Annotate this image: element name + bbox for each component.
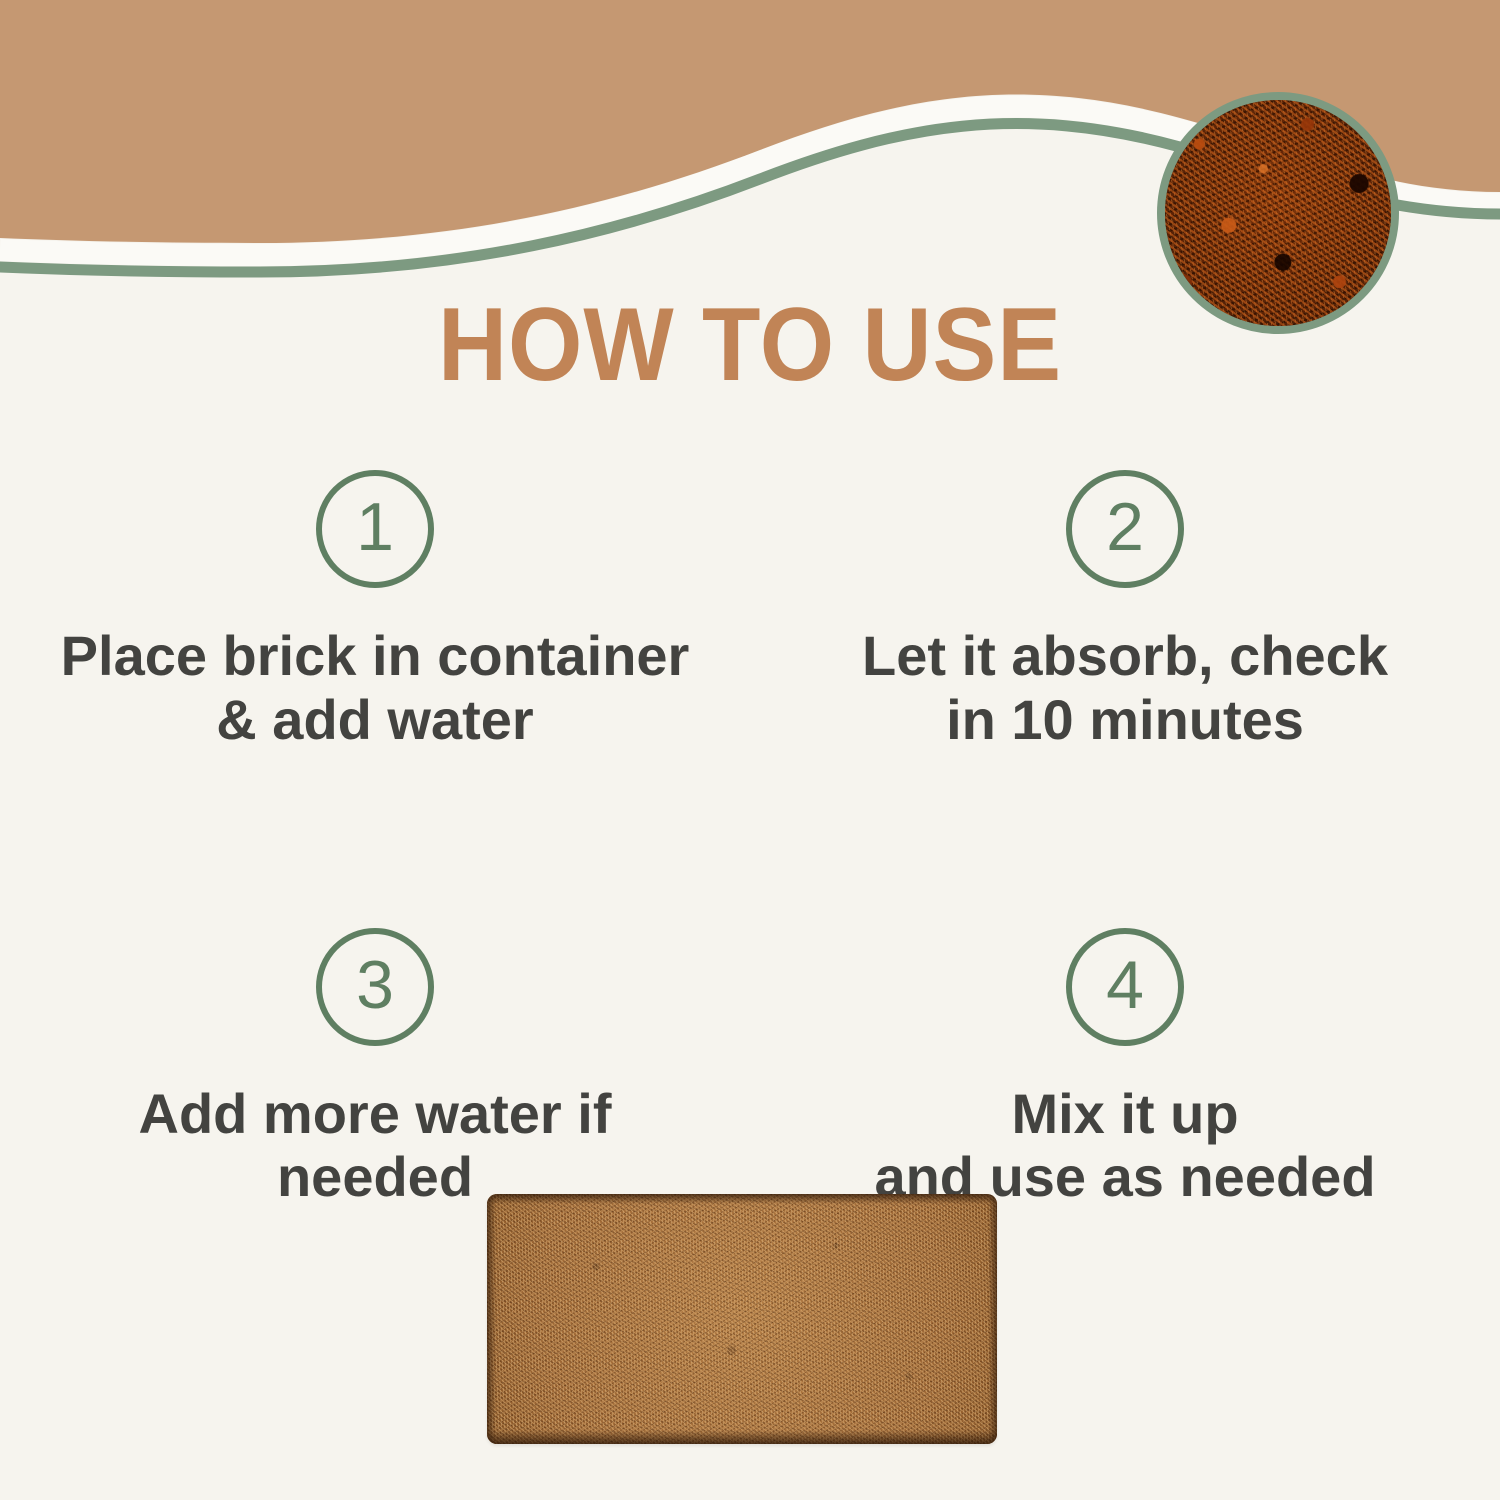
steps-row-1: 1 Place brick in container & add water 2… xyxy=(0,470,1500,752)
steps-row-2: 3 Add more water if needed 4 Mix it up a… xyxy=(0,928,1500,1210)
brick-edge-bottom xyxy=(487,1430,997,1444)
brick-edge-top xyxy=(487,1194,997,1204)
step-3-number-badge: 3 xyxy=(316,928,434,1046)
step-3: 3 Add more water if needed xyxy=(0,928,750,1210)
page-title: HOW TO USE xyxy=(60,293,1440,397)
step-3-label: Add more water if needed xyxy=(139,1082,612,1210)
step-4-number-badge: 4 xyxy=(1066,928,1184,1046)
steps-grid: 1 Place brick in container & add water 2… xyxy=(0,470,1500,1209)
step-2-number-badge: 2 xyxy=(1066,470,1184,588)
step-2: 2 Let it absorb, check in 10 minutes xyxy=(750,470,1500,752)
step-1-number-badge: 1 xyxy=(316,470,434,588)
coir-brick-photo xyxy=(487,1194,997,1444)
step-1: 1 Place brick in container & add water xyxy=(0,470,750,752)
infographic-canvas: HOW TO USE 1 Place brick in container & … xyxy=(0,0,1500,1500)
step-4-label: Mix it up and use as needed xyxy=(874,1082,1375,1210)
brick-texture xyxy=(487,1194,997,1444)
brick-edge-right xyxy=(988,1194,997,1444)
step-4: 4 Mix it up and use as needed xyxy=(750,928,1500,1210)
brick-edge-left xyxy=(487,1194,496,1444)
step-2-label: Let it absorb, check in 10 minutes xyxy=(862,624,1388,752)
step-1-label: Place brick in container & add water xyxy=(61,624,690,752)
